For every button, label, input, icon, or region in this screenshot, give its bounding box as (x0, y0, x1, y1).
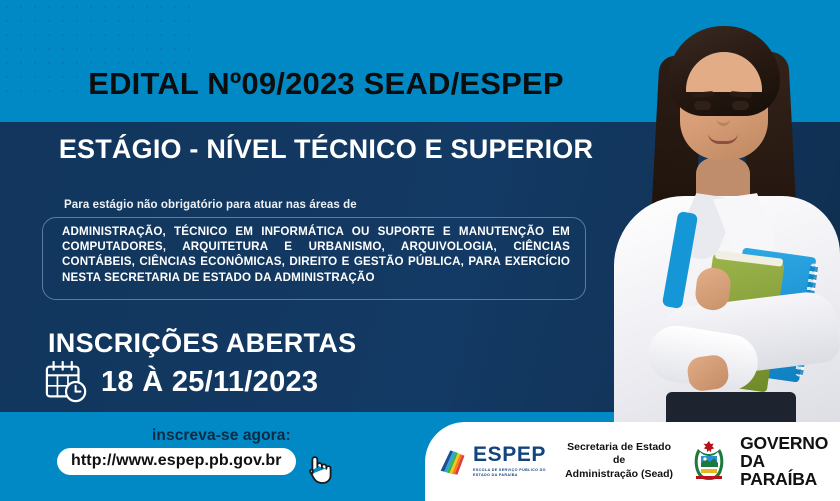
call-to-action-label: inscreva-se agora: (152, 427, 291, 445)
eye-right (732, 101, 749, 110)
eye-left (694, 101, 711, 110)
secretaria-line-2: Administração (Sead) (564, 468, 674, 482)
footer-logos: ESPEP ESCOLA DE SERVIÇO PÚBLICO DO ESTAD… (438, 430, 838, 492)
espep-text-block: ESPEP ESCOLA DE SERVIÇO PÚBLICO DO ESTAD… (473, 444, 546, 479)
paraiba-coat-of-arms-icon (690, 439, 728, 483)
secretaria-line-1: Secretaria de Estado de (564, 441, 674, 468)
governo-line-2: DA PARAÍBA (740, 452, 838, 488)
student-photo (596, 0, 840, 430)
inscriptions-date-row: 18 À 25/11/2023 (44, 360, 318, 404)
page-title: EDITAL Nº09/2023 SEAD/ESPEP (0, 66, 652, 102)
governo-text: GOVERNO DA PARAÍBA (740, 434, 838, 488)
espep-subtitle: ESCOLA DE SERVIÇO PÚBLICO DO ESTADO DA P… (473, 468, 546, 479)
espep-logo: ESPEP ESCOLA DE SERVIÇO PÚBLICO DO ESTAD… (438, 444, 546, 479)
espep-name: ESPEP (473, 444, 546, 465)
calendar-clock-icon (44, 360, 90, 404)
inscriptions-date: 18 À 25/11/2023 (101, 366, 318, 399)
hand-pointer-icon (300, 450, 336, 486)
subtitle-banner: ESTÁGIO - NÍVEL TÉCNICO E SUPERIOR (0, 134, 652, 165)
areas-body-text: ADMINISTRAÇÃO, TÉCNICO EM INFORMÁTICA OU… (62, 224, 570, 285)
areas-intro-label: Para estágio não obrigatório para atuar … (64, 199, 357, 211)
inscriptions-heading: INSCRIÇÕES ABERTAS (48, 328, 356, 359)
poster-canvas: EDITAL Nº09/2023 SEAD/ESPEP ESTÁGIO - NÍ… (0, 0, 840, 501)
governo-line-1: GOVERNO (740, 434, 838, 452)
nose (717, 112, 730, 126)
espep-pages-icon (438, 446, 468, 476)
registration-url[interactable]: http://www.espep.pb.gov.br (57, 448, 296, 475)
secretaria-text: Secretaria de Estado de Administração (S… (564, 441, 674, 482)
